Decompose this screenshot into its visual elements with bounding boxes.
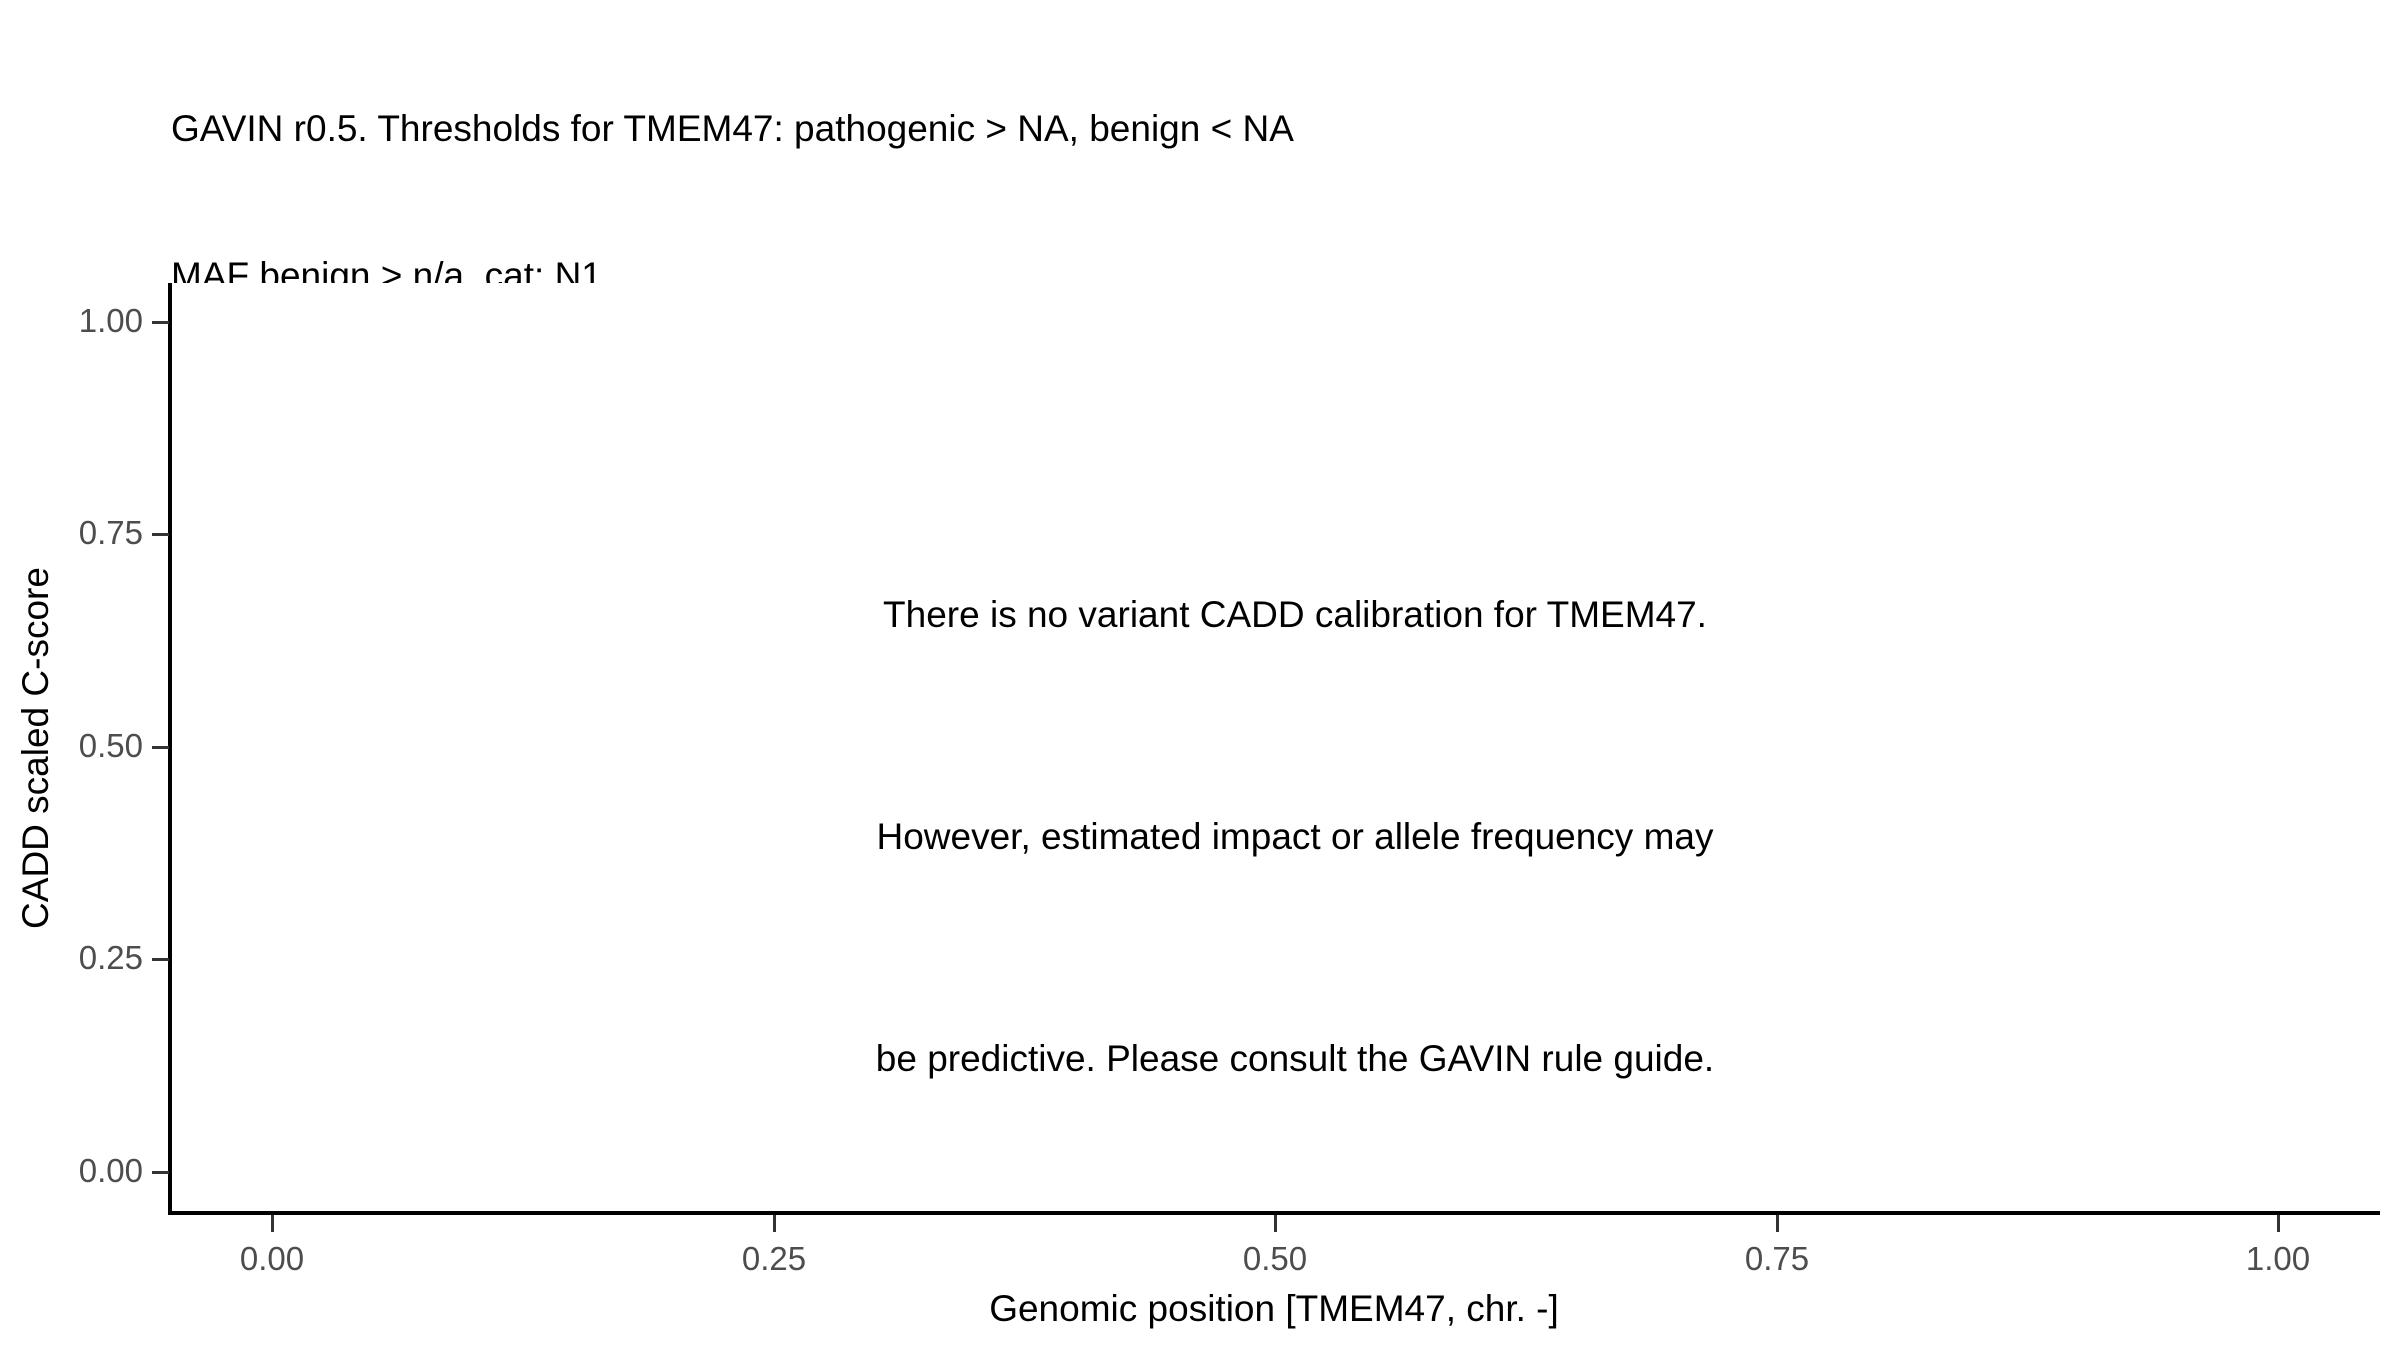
no-calibration-message-line-3: be predictive. Please consult the GAVIN … [295,1022,2295,1096]
y-tick-mark-3 [152,533,169,536]
x-tick-label-4: 1.00 [2158,1240,2398,1278]
y-tick-mark-0 [152,1171,169,1174]
chart-canvas: GAVIN r0.5. Thresholds for TMEM47: patho… [0,0,2400,1350]
y-tick-mark-2 [152,746,169,749]
y-axis-line [168,283,172,1215]
no-calibration-message-line-2: However, estimated impact or allele freq… [295,800,2295,874]
x-tick-label-1: 0.25 [654,1240,894,1278]
x-tick-label-3: 0.75 [1657,1240,1897,1278]
y-axis-title: CADD scaled C-score [15,348,57,1148]
y-tick-label-4: 1.00 [0,302,143,340]
x-axis-title: Genomic position [TMEM47, chr. -] [170,1288,2378,1330]
chart-title-line-1: GAVIN r0.5. Thresholds for TMEM47: patho… [171,104,2371,153]
no-calibration-message: There is no variant CADD calibration for… [295,430,2295,1244]
x-tick-mark-0 [271,1215,274,1232]
y-tick-label-0: 0.00 [0,1152,143,1190]
x-tick-label-0: 0.00 [152,1240,392,1278]
y-tick-mark-4 [152,321,169,324]
no-calibration-message-line-1: There is no variant CADD calibration for… [295,578,2295,652]
x-tick-label-2: 0.50 [1155,1240,1395,1278]
y-tick-mark-1 [152,958,169,961]
